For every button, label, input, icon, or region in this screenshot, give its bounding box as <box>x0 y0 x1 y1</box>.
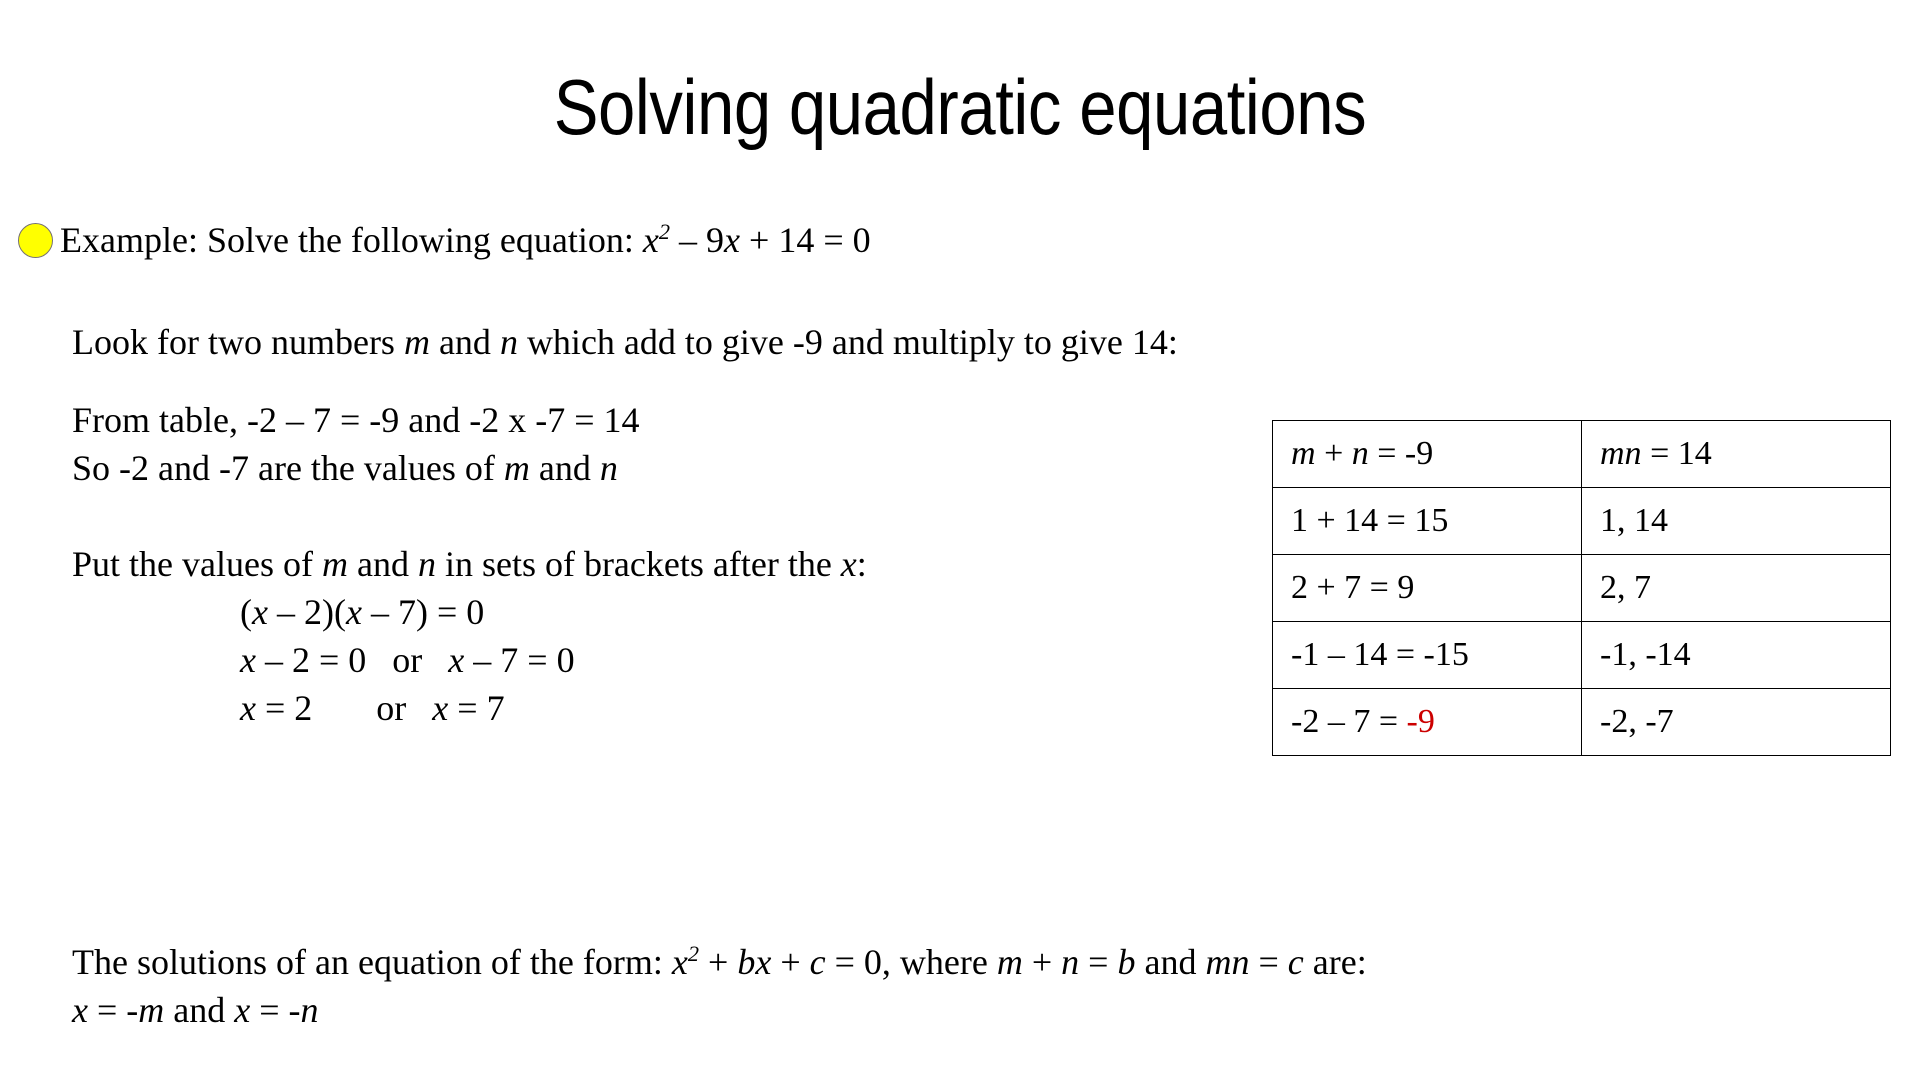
eq2-var-x1: x <box>240 640 256 680</box>
so-values-line: So -2 and -7 are the values of m and n <box>72 444 618 492</box>
sol1-var-b: b <box>737 942 755 982</box>
eq2-or: or <box>392 640 422 680</box>
table-cell-sum: -1 – 14 = -15 <box>1273 622 1582 689</box>
equation-line-factors-zero: x – 2 = 0orx – 7 = 0 <box>240 636 575 684</box>
put-part4: : <box>857 544 867 584</box>
yellow-circle-bullet-icon <box>18 223 53 258</box>
table-header-row: m + n = -9 mn = 14 <box>1273 421 1891 488</box>
sol1-var-x2: x <box>755 942 771 982</box>
equation-middle: – 9 <box>670 220 724 260</box>
sol2-part1: = - <box>88 990 138 1030</box>
sol1-part1: The solutions of an equation of the form… <box>72 942 672 982</box>
factor-pairs-table: m + n = -9 mn = 14 1 + 14 = 15 1, 14 2 +… <box>1272 420 1891 756</box>
eq1-mid2: – 7) = 0 <box>362 592 484 632</box>
header-var-n: n <box>1352 435 1369 472</box>
sol1-var-c2: c <box>1288 942 1304 982</box>
put-part2: and <box>348 544 418 584</box>
sol1-var-n: n <box>1061 942 1079 982</box>
sol2-var-x1: x <box>72 990 88 1030</box>
eq2-right: – 7 = 0 <box>464 640 574 680</box>
from-table-line: From table, -2 – 7 = -9 and -2 x -7 = 14 <box>72 396 640 444</box>
table-cell-sum: 1 + 14 = 15 <box>1273 488 1582 555</box>
look-var-n: n <box>500 322 518 362</box>
general-solution-line-2: x = -m and x = -n <box>72 986 319 1034</box>
put-var-x: x <box>841 544 857 584</box>
header-var-mn: mn <box>1600 435 1642 472</box>
table-header-product: mn = 14 <box>1582 421 1891 488</box>
sol2-var-m: m <box>138 990 164 1030</box>
put-values-line: Put the values of m and n in sets of bra… <box>72 540 867 588</box>
header-sum-value: = -9 <box>1369 435 1434 472</box>
eq3-left: = 2 <box>256 688 312 728</box>
so-var-m: m <box>504 448 530 488</box>
header-var-m: m <box>1291 435 1316 472</box>
table-cell-pair: -1, -14 <box>1582 622 1891 689</box>
so-var-n: n <box>600 448 618 488</box>
eq3-right: = 7 <box>448 688 504 728</box>
table-row: 1 + 14 = 15 1, 14 <box>1273 488 1891 555</box>
eq3-var-x1: x <box>240 688 256 728</box>
sol1-var-x: x <box>672 942 688 982</box>
look-part1: Look for two numbers <box>72 322 404 362</box>
table-row-highlighted: -2 – 7 = -9 -2, -7 <box>1273 689 1891 756</box>
sol1-part8: = <box>1249 942 1287 982</box>
equation-tail: + 14 = 0 <box>740 220 871 260</box>
sol1-var-m: m <box>997 942 1023 982</box>
bullet-example-row: Example: Solve the following equation: x… <box>18 216 871 264</box>
equation-variable-x2: x <box>724 220 740 260</box>
eq2-var-x2: x <box>448 640 464 680</box>
highlight-sum-prefix: -2 – 7 = <box>1291 703 1407 740</box>
table-cell-sum: 2 + 7 = 9 <box>1273 555 1582 622</box>
sol2-var-x2: x <box>234 990 250 1030</box>
factor-table-body: m + n = -9 mn = 14 1 + 14 = 15 1, 14 2 +… <box>1273 421 1891 756</box>
eq3-var-x2: x <box>432 688 448 728</box>
eq1-mid1: – 2)( <box>268 592 346 632</box>
put-var-m: m <box>322 544 348 584</box>
sol1-part5: + <box>1023 942 1061 982</box>
look-for-numbers-line: Look for two numbers m and n which add t… <box>72 318 1178 366</box>
table-cell-pair: 1, 14 <box>1582 488 1891 555</box>
equation-line-solutions: x = 2orx = 7 <box>240 684 505 732</box>
so-part2: and <box>530 448 600 488</box>
table-header-sum: m + n = -9 <box>1273 421 1582 488</box>
eq2-left: – 2 = 0 <box>256 640 366 680</box>
bullet-prefix: Example: Solve the following equation: <box>60 220 643 260</box>
table-cell-pair: 2, 7 <box>1582 555 1891 622</box>
eq1-open: ( <box>240 592 252 632</box>
sol1-part3: + <box>771 942 809 982</box>
bullet-example-text: Example: Solve the following equation: x… <box>60 218 871 262</box>
so-part1: So -2 and -7 are the values of <box>72 448 504 488</box>
look-part3: which add to give -9 and multiply to giv… <box>518 322 1178 362</box>
equation-line-factored: (x – 2)(x – 7) = 0 <box>240 588 484 636</box>
sol1-var-b2: b <box>1117 942 1135 982</box>
sol2-part3: = - <box>250 990 300 1030</box>
slide-canvas: Solving quadratic equations Example: Sol… <box>0 0 1920 1080</box>
equation-exponent: 2 <box>659 219 670 244</box>
table-cell-sum: -2 – 7 = -9 <box>1273 689 1582 756</box>
equation-variable-x: x <box>643 220 659 260</box>
sol2-var-n: n <box>301 990 319 1030</box>
general-solution-line-1: The solutions of an equation of the form… <box>72 938 1367 986</box>
eq1-var-x1: x <box>252 592 268 632</box>
sol2-part2: and <box>164 990 234 1030</box>
put-part1: Put the values of <box>72 544 322 584</box>
put-part3: in sets of brackets after the <box>436 544 841 584</box>
sol1-part7: and <box>1135 942 1205 982</box>
sol1-exponent: 2 <box>688 941 699 966</box>
table-cell-pair: -2, -7 <box>1582 689 1891 756</box>
sol1-part9: are: <box>1304 942 1367 982</box>
page-title: Solving quadratic equations <box>134 62 1785 152</box>
table-row: 2 + 7 = 9 2, 7 <box>1273 555 1891 622</box>
header-product-value: = 14 <box>1642 435 1712 472</box>
sol1-part6: = <box>1079 942 1117 982</box>
eq1-var-x2: x <box>346 592 362 632</box>
eq3-or: or <box>376 688 406 728</box>
sol1-var-mn: mn <box>1205 942 1249 982</box>
header-plus: + <box>1316 435 1352 472</box>
look-var-m: m <box>404 322 430 362</box>
sol1-var-c: c <box>810 942 826 982</box>
highlight-sum-value: -9 <box>1407 703 1435 740</box>
look-part2: and <box>430 322 500 362</box>
sol1-part4: = 0, where <box>826 942 997 982</box>
table-row: -1 – 14 = -15 -1, -14 <box>1273 622 1891 689</box>
sol1-part2: + <box>699 942 737 982</box>
put-var-n: n <box>418 544 436 584</box>
